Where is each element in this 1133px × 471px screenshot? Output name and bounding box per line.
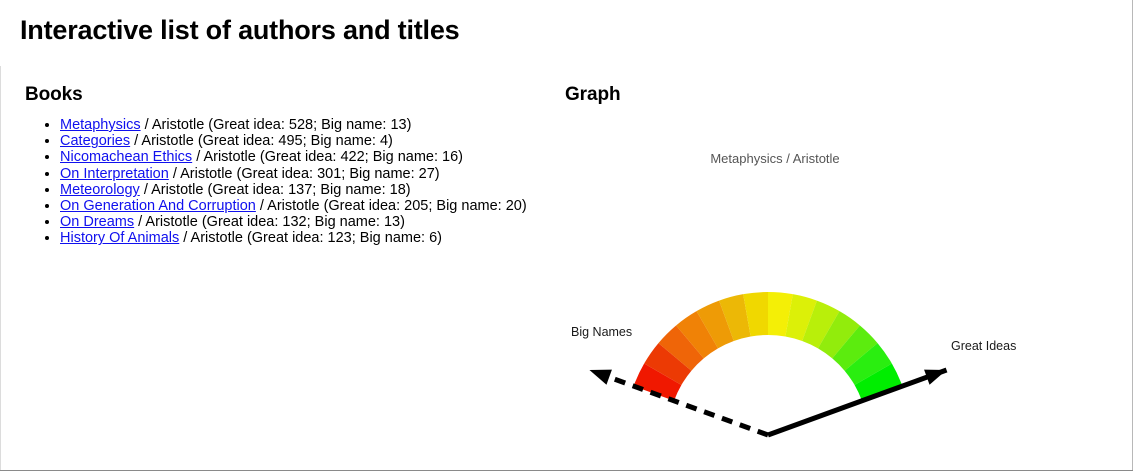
book-title-link[interactable]: On Interpretation bbox=[60, 166, 169, 182]
list-item: Categories / Aristotle (Great idea: 495;… bbox=[60, 133, 545, 149]
gauge-arc-segments bbox=[634, 292, 903, 401]
book-meta: / Aristotle (Great idea: 422; Big name: … bbox=[192, 149, 463, 165]
graph-panel: Graph Metaphysics / Aristotle Big Names … bbox=[565, 83, 1125, 471]
book-title-link[interactable]: Categories bbox=[60, 133, 130, 149]
book-title-link[interactable]: On Dreams bbox=[60, 214, 134, 230]
great-ideas-arrow-head bbox=[924, 370, 946, 385]
book-list: Metaphysics / Aristotle (Great idea: 528… bbox=[25, 117, 545, 247]
book-title-link[interactable]: History Of Animals bbox=[60, 230, 179, 246]
list-item: On Generation And Corruption / Aristotle… bbox=[60, 198, 545, 214]
gauge-chart[interactable]: Big Names Great Ideas bbox=[555, 268, 1025, 471]
books-heading: Books bbox=[25, 83, 545, 107]
book-meta: / Aristotle (Great idea: 495; Big name: … bbox=[130, 133, 393, 149]
book-meta: / Aristotle (Great idea: 123; Big name: … bbox=[179, 230, 442, 246]
great-ideas-label: Great Ideas bbox=[951, 339, 1016, 353]
page-left-border bbox=[0, 66, 1, 470]
big-names-label: Big Names bbox=[571, 325, 632, 339]
book-title-link[interactable]: Meteorology bbox=[60, 182, 140, 198]
books-panel: Books Metaphysics / Aristotle (Great ide… bbox=[25, 83, 545, 247]
book-meta: / Aristotle (Great idea: 528; Big name: … bbox=[141, 117, 412, 133]
book-title-link[interactable]: Nicomachean Ethics bbox=[60, 149, 192, 165]
list-item: Nicomachean Ethics / Aristotle (Great id… bbox=[60, 149, 545, 165]
list-item: On Dreams / Aristotle (Great idea: 132; … bbox=[60, 214, 545, 230]
page-root: Interactive list of authors and titles B… bbox=[0, 0, 1133, 471]
graph-area: Metaphysics / Aristotle Big Names Great … bbox=[565, 113, 1125, 471]
list-item: Metaphysics / Aristotle (Great idea: 528… bbox=[60, 117, 545, 133]
book-meta: / Aristotle (Great idea: 137; Big name: … bbox=[140, 182, 411, 198]
book-meta: / Aristotle (Great idea: 132; Big name: … bbox=[134, 214, 405, 230]
big-names-arrow-head bbox=[589, 370, 611, 385]
page-title: Interactive list of authors and titles bbox=[20, 14, 460, 46]
graph-caption: Metaphysics / Aristotle bbox=[565, 151, 985, 166]
book-title-link[interactable]: On Generation And Corruption bbox=[60, 198, 256, 214]
book-meta: / Aristotle (Great idea: 205; Big name: … bbox=[256, 198, 527, 214]
book-meta: / Aristotle (Great idea: 301; Big name: … bbox=[169, 166, 440, 182]
list-item: History Of Animals / Aristotle (Great id… bbox=[60, 230, 545, 246]
list-item: On Interpretation / Aristotle (Great ide… bbox=[60, 166, 545, 182]
list-item: Meteorology / Aristotle (Great idea: 137… bbox=[60, 182, 545, 198]
graph-heading: Graph bbox=[565, 83, 1125, 107]
book-title-link[interactable]: Metaphysics bbox=[60, 117, 141, 133]
